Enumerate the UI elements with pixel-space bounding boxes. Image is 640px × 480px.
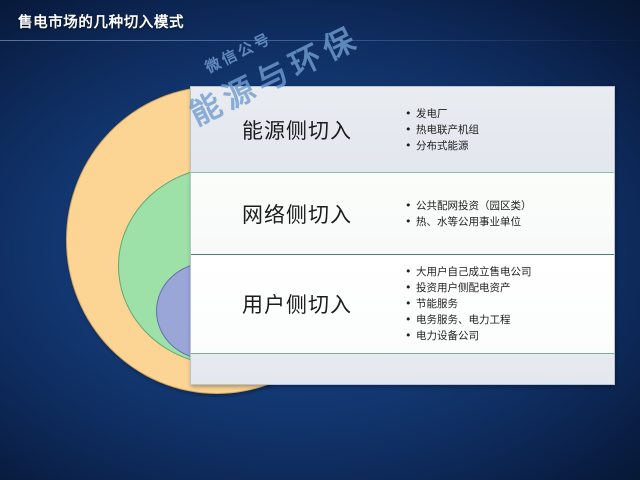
list-item: • 大用户自己成立售电公司: [405, 264, 614, 280]
list-item-label: 公共配网投资（园区类）: [416, 198, 532, 214]
slide-title-bar: 售电市场的几种切入模式: [0, 0, 640, 41]
list-item-label: 电务服务、电力工程: [416, 312, 511, 328]
bullet-icon: •: [405, 198, 416, 214]
panel-row-user-side: 用户侧切入 • 大用户自己成立售电公司 • 投资用户侧配电资产 • 节能服务 •…: [191, 255, 614, 354]
row-bullets-network-side: • 公共配网投资（园区类） • 热、水等公用事业单位: [397, 198, 614, 230]
list-item: • 发电厂: [405, 106, 614, 122]
bullet-icon: •: [405, 312, 416, 328]
page-title: 售电市场的几种切入模式: [18, 11, 184, 32]
list-item-label: 热、水等公用事业单位: [416, 214, 521, 230]
list-item-label: 发电厂: [416, 106, 448, 122]
bullet-icon: •: [405, 138, 416, 154]
list-item: • 公共配网投资（园区类）: [405, 198, 614, 214]
list-item: • 热、水等公用事业单位: [405, 214, 614, 230]
slide-canvas: 售电市场的几种切入模式 能源侧切入 • 发电厂 • 热电联产机组 • 分布式能源: [0, 0, 640, 480]
bullet-icon: •: [405, 122, 416, 138]
bullet-icon: •: [405, 328, 416, 344]
row-bullets-energy-side: • 发电厂 • 热电联产机组 • 分布式能源: [397, 106, 614, 154]
bullet-icon: •: [405, 264, 416, 280]
panel-row-network-side: 网络侧切入 • 公共配网投资（园区类） • 热、水等公用事业单位: [191, 173, 614, 255]
panel-row-footer-strip: [191, 354, 614, 384]
row-heading-energy-side: 能源侧切入: [191, 115, 397, 145]
list-item: • 分布式能源: [405, 138, 614, 154]
list-item: • 热电联产机组: [405, 122, 614, 138]
list-item-label: 节能服务: [416, 296, 458, 312]
list-item-label: 大用户自己成立售电公司: [416, 264, 532, 280]
list-item-label: 投资用户侧配电资产: [416, 280, 511, 296]
list-item-label: 热电联产机组: [416, 122, 479, 138]
list-item: • 电力设备公司: [405, 328, 614, 344]
list-item: • 节能服务: [405, 296, 614, 312]
row-heading-user-side: 用户侧切入: [191, 289, 397, 319]
bullet-icon: •: [405, 280, 416, 296]
content-panel: 能源侧切入 • 发电厂 • 热电联产机组 • 分布式能源 网络侧切入: [190, 86, 615, 385]
row-bullets-user-side: • 大用户自己成立售电公司 • 投资用户侧配电资产 • 节能服务 • 电务服务、…: [397, 264, 614, 344]
bullet-icon: •: [405, 296, 416, 312]
bullet-icon: •: [405, 214, 416, 230]
title-divider: [0, 40, 640, 41]
row-heading-network-side: 网络侧切入: [191, 199, 397, 229]
bullet-icon: •: [405, 106, 416, 122]
list-item: • 投资用户侧配电资产: [405, 280, 614, 296]
list-item-label: 电力设备公司: [416, 328, 479, 344]
list-item: • 电务服务、电力工程: [405, 312, 614, 328]
panel-row-energy-side: 能源侧切入 • 发电厂 • 热电联产机组 • 分布式能源: [191, 87, 614, 173]
list-item-label: 分布式能源: [416, 138, 469, 154]
